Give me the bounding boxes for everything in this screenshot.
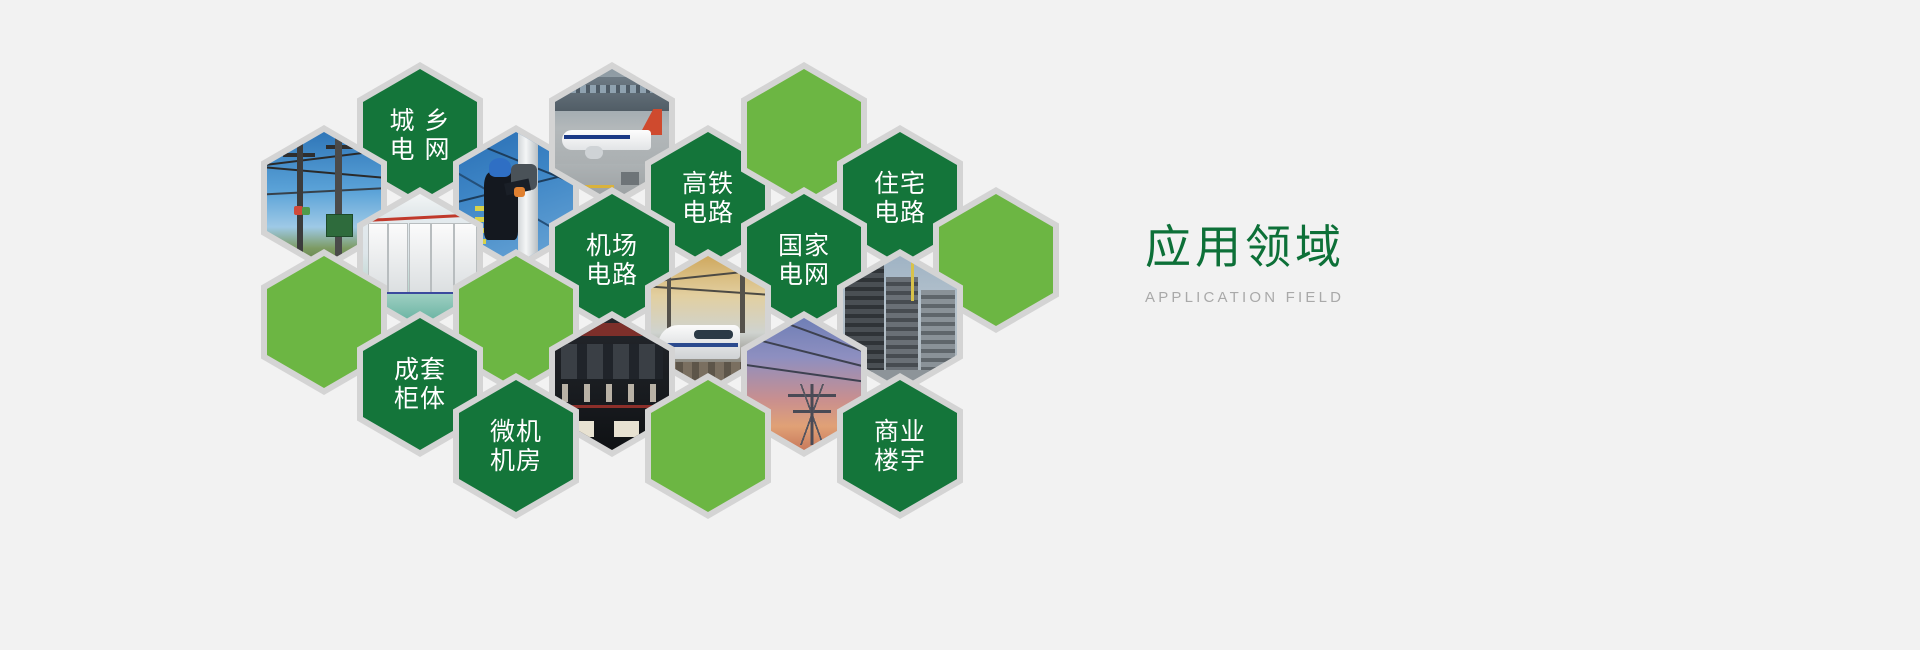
hex-label: 成套 柜体 — [394, 355, 446, 413]
hex-label: 机场 电路 — [586, 231, 638, 289]
heading-block: 应用领域 APPLICATION FIELD — [1145, 222, 1665, 306]
hex-inner: 微机 机房 — [459, 380, 573, 512]
hex-label: 国家 电网 — [778, 231, 830, 289]
hex-label: 高铁 电路 — [682, 169, 734, 227]
application-field-banner: 城 乡 电 网高铁 电路住宅 电路机场 电路国家 电网成套 柜体微机 机房商业 … — [0, 0, 1920, 650]
page-title: 应用领域 — [1145, 222, 1665, 273]
hex-label: 住宅 电路 — [874, 169, 926, 227]
hex-inner — [651, 380, 765, 512]
hex-label: 微机 机房 — [490, 417, 542, 475]
hex-inner: 商业 楼宇 — [843, 380, 957, 512]
page-subtitle: APPLICATION FIELD — [1145, 289, 1665, 306]
hex-label: 城 乡 电 网 — [390, 106, 451, 164]
hex-label: 商业 楼宇 — [874, 417, 926, 475]
